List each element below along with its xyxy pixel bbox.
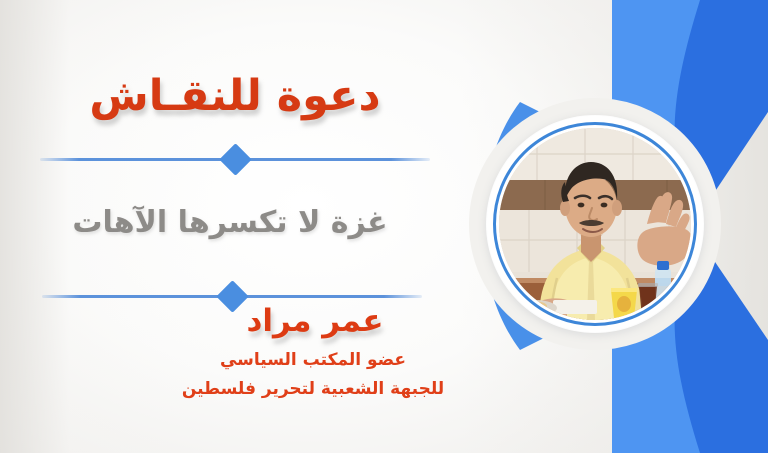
subtitle: غزة لا تكسرها الآهات (50, 205, 410, 240)
speaker-role-line-2: للجبهة الشعبية لتحرير فلسطين (172, 379, 454, 399)
poster-text-content: دعوة للنقـاش غزة لا تكسرها الآهات عمر مر… (0, 0, 470, 453)
divider-top (40, 148, 430, 170)
speaker-portrait (487, 116, 703, 332)
divider-diamond-icon (219, 143, 252, 176)
speaker-role-line-1: عضو المكتب السياسي (198, 350, 428, 370)
poster-canvas: دعوة للنقـاش غزة لا تكسرها الآهات عمر مر… (0, 0, 768, 453)
portrait-photo (499, 128, 691, 320)
speaker-name: عمر مراد (215, 303, 415, 339)
page-title: دعوة للنقـاش (70, 74, 400, 120)
